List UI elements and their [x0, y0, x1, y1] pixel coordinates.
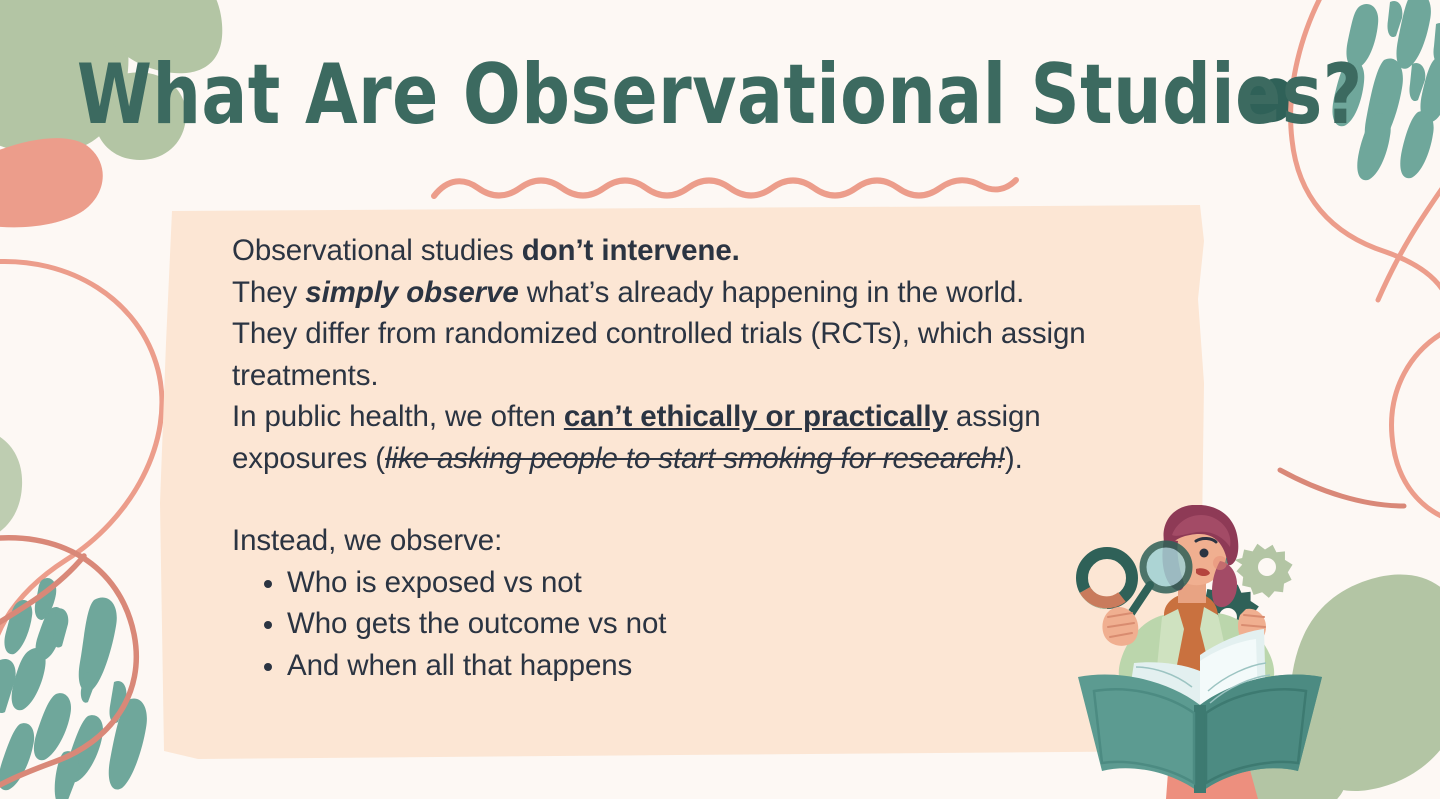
observe-lead-in: Instead, we observe:: [232, 520, 1162, 562]
line2-bold-italic: simply observe: [305, 276, 518, 309]
coral-curve-top-right: [1291, 0, 1440, 300]
observe-list: Who is exposed vs not Who gets the outco…: [232, 562, 1162, 687]
coral-curve-bottom-left-1: [0, 538, 136, 799]
hand-left: [1102, 607, 1138, 646]
title-container: What Are Observational Studies?: [0, 58, 1440, 133]
bottom-left-leaf-dashes: [0, 578, 147, 799]
coral-curve-left: [0, 261, 162, 700]
paragraph-spacer: [232, 479, 1162, 520]
line1-plain: Observational studies: [232, 234, 522, 267]
slide-canvas: What Are Observational Studies? Observat…: [0, 0, 1440, 799]
bullet-dot-icon: [264, 663, 272, 671]
cheek: [1213, 556, 1227, 570]
woman-reading-book-illustration: [1060, 505, 1360, 799]
list-item: Who is exposed vs not: [232, 562, 1162, 604]
coral-curve-top-right-2: [1378, 180, 1440, 300]
page-title: What Are Observational Studies?: [77, 53, 1363, 138]
line4-bold-underline: can’t ethically or practically: [564, 400, 948, 433]
coral-curve-bottom-right: [1280, 470, 1404, 506]
bullet-dot-icon: [264, 580, 272, 588]
body-line-2: They simply observe what’s already happe…: [232, 272, 1162, 314]
left-sage-blob: [0, 428, 22, 543]
eye: [1200, 549, 1209, 558]
list-item-label: Who is exposed vs not: [287, 566, 582, 599]
coral-curve-bottom-left-2: [0, 556, 84, 640]
list-item-label: Who gets the outcome vs not: [287, 607, 666, 640]
line3-plain: They differ from randomized controlled t…: [232, 317, 1086, 392]
line2-plain-1: They: [232, 276, 305, 309]
list-item: Who gets the outcome vs not: [232, 603, 1162, 645]
line1-bold: don’t intervene.: [522, 234, 740, 267]
line4-plain-1: In public health, we often: [232, 400, 564, 433]
body-copy: Observational studies don’t intervene. T…: [232, 230, 1162, 686]
line4-plain-3: ).: [1005, 442, 1023, 475]
gear-icon-light: [1235, 544, 1293, 598]
body-line-4: In public health, we often can’t ethical…: [232, 396, 1162, 479]
coral-curve-right-middle: [1392, 330, 1440, 520]
line4-italic-strike: like asking people to start smoking for …: [385, 442, 1005, 475]
body-line-1: Observational studies don’t intervene.: [232, 230, 1162, 272]
top-left-coral-blob: [0, 138, 103, 227]
list-item-label: And when all that happens: [287, 649, 632, 682]
donut-chart-icon: [1082, 553, 1132, 603]
body-line-3: They differ from randomized controlled t…: [232, 313, 1162, 396]
list-item: And when all that happens: [232, 645, 1162, 687]
bullet-dot-icon: [264, 621, 272, 629]
book-spine: [1194, 705, 1206, 793]
wavy-underline-icon: [430, 168, 1020, 202]
line2-plain-2: what’s already happening in the world.: [519, 276, 1025, 309]
